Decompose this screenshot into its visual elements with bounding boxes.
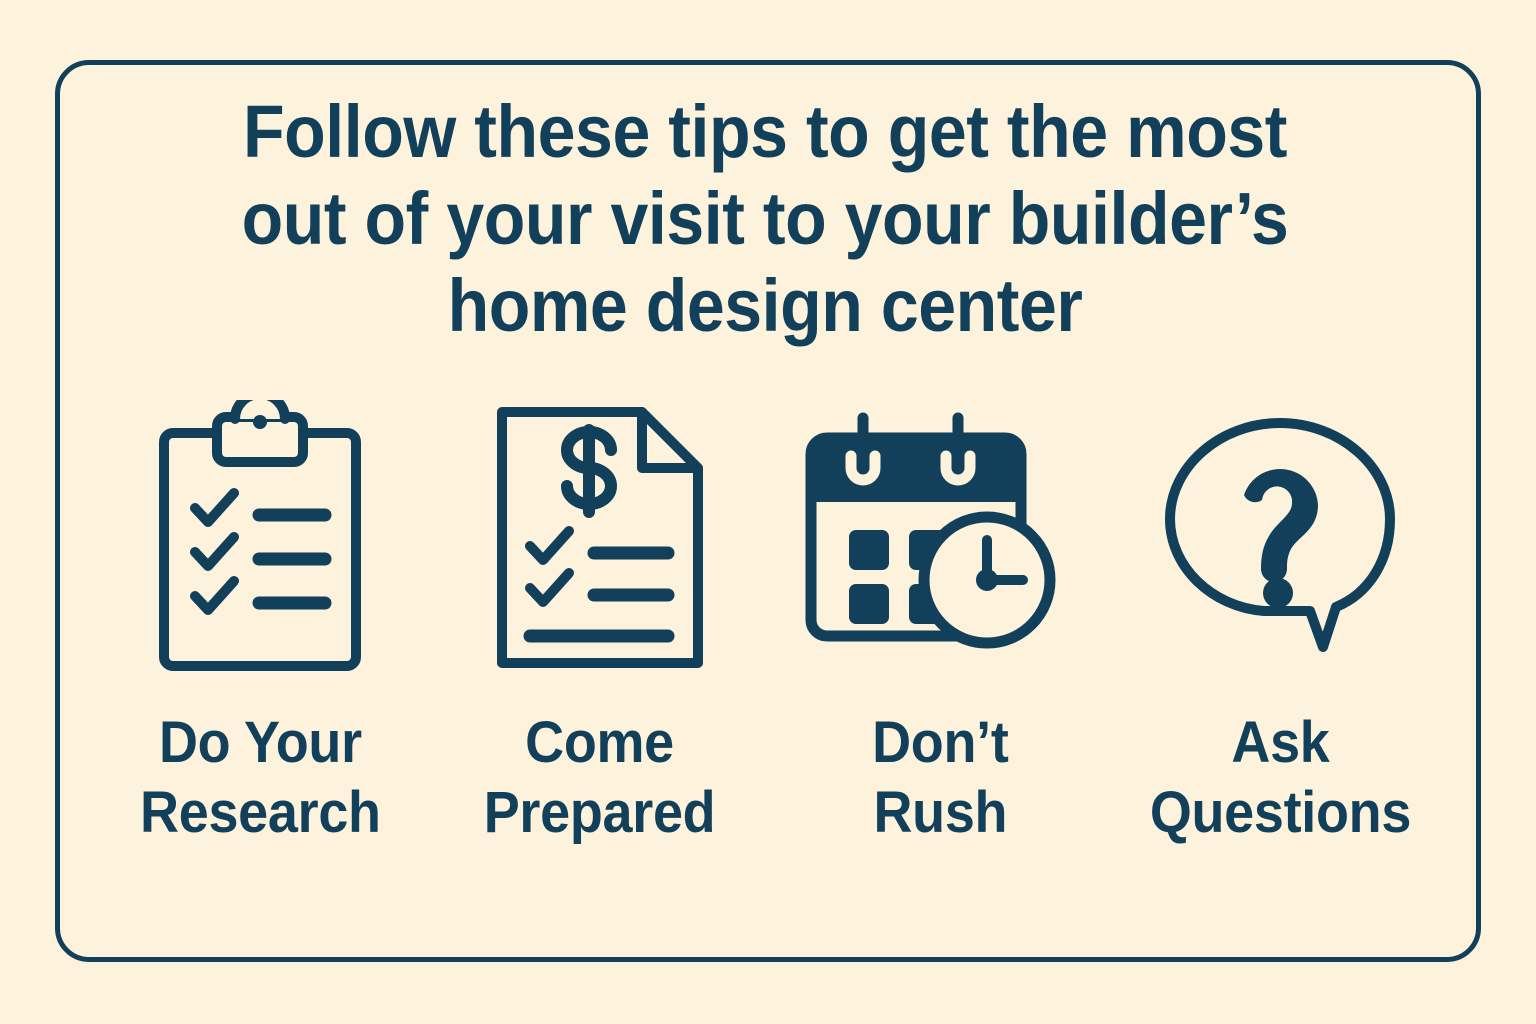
speech-bubble-question-icon <box>1130 392 1430 682</box>
speech-bubble-question-glyph <box>1160 415 1400 660</box>
infographic-canvas: Follow these tips to get the most out of… <box>0 0 1536 1024</box>
tip-caption: Don’t Rush <box>872 708 1008 848</box>
tip-item-ask-questions: Ask Questions <box>1110 392 1450 848</box>
tip-item-do-your-research: Do Your Research <box>90 392 430 848</box>
tip-caption-line-2: Research <box>140 778 381 848</box>
page-title: Follow these tips to get the most out of… <box>172 88 1359 349</box>
tip-caption-line-2: Prepared <box>484 778 716 848</box>
calendar-clock-glyph <box>805 412 1075 662</box>
tip-caption: Come Prepared <box>484 708 716 848</box>
tip-item-come-prepared: Come Prepared <box>430 392 770 848</box>
calendar-clock-icon <box>790 392 1090 682</box>
tip-caption-line-1: Don’t <box>872 708 1008 778</box>
document-dollar-checklist-glyph <box>490 400 710 675</box>
page-title-line-2: out of your visit to your builder’s <box>172 175 1359 262</box>
clipboard-checklist-icon <box>110 392 410 682</box>
tip-caption-line-1: Do Your <box>140 708 381 778</box>
tip-caption-line-1: Ask <box>1149 708 1410 778</box>
page-title-line-1: Follow these tips to get the most <box>172 88 1359 175</box>
tip-caption-line-2: Questions <box>1149 778 1410 848</box>
tip-caption: Ask Questions <box>1149 708 1410 848</box>
tips-row: Do Your Research <box>90 392 1450 848</box>
tip-caption-line-2: Rush <box>872 778 1008 848</box>
page-title-line-3: home design center <box>172 262 1359 349</box>
document-dollar-checklist-icon <box>450 392 750 682</box>
clipboard-checklist-glyph <box>155 400 365 675</box>
tip-caption: Do Your Research <box>140 708 381 848</box>
tip-caption-line-1: Come <box>484 708 716 778</box>
tip-item-dont-rush: Don’t Rush <box>770 392 1110 848</box>
